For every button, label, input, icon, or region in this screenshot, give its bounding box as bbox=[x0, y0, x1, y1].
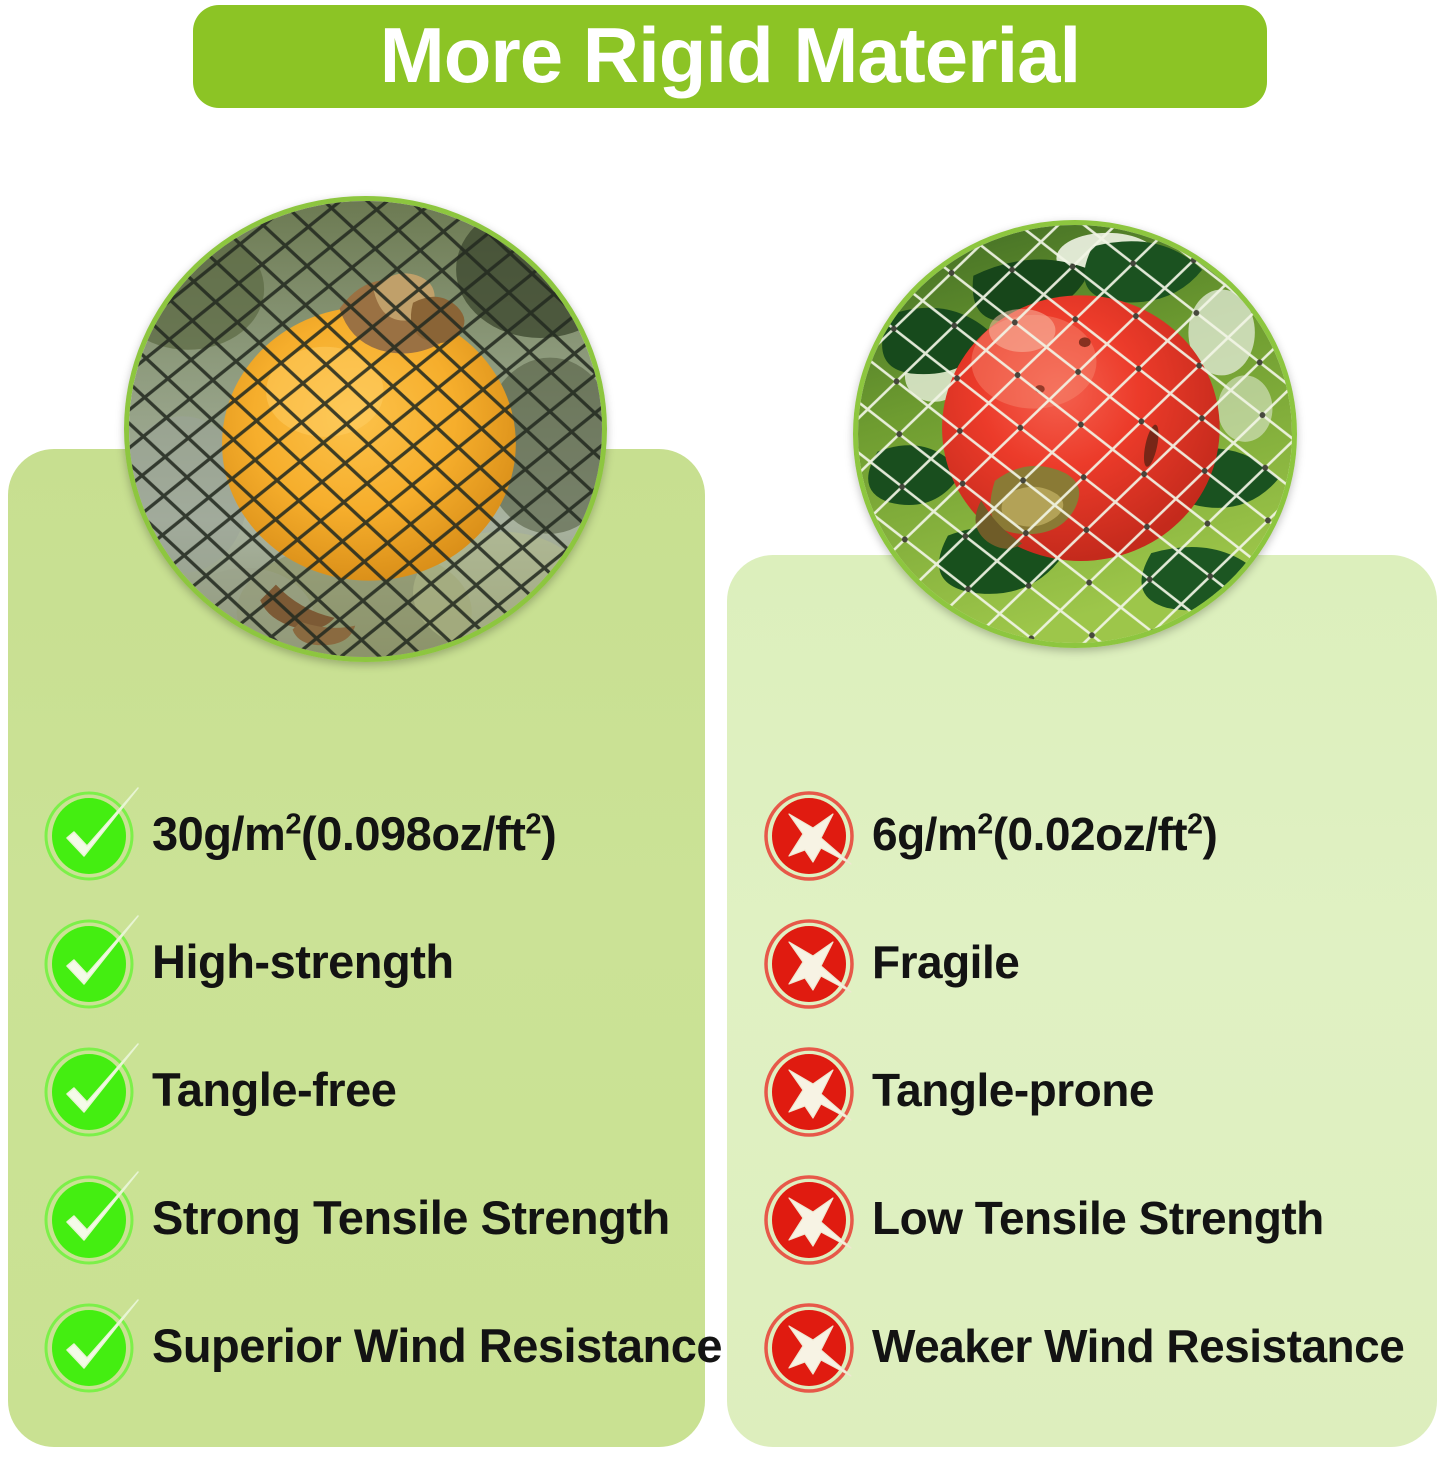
feature-label: Tangle-free bbox=[152, 1065, 396, 1114]
feature-row: Weaker Wind Resistance bbox=[762, 1290, 1432, 1402]
cross-icon bbox=[762, 1170, 858, 1266]
feature-row: High-strength bbox=[42, 906, 692, 1018]
feature-label: Strong Tensile Strength bbox=[152, 1193, 670, 1242]
feature-row: Low Tensile Strength bbox=[762, 1162, 1432, 1274]
feature-label: 30g/m2(0.098oz/ft2) bbox=[152, 809, 556, 858]
cross-icon bbox=[762, 914, 858, 1010]
feature-row: Tangle-free bbox=[42, 1034, 692, 1146]
feature-list-left: 30g/m2(0.098oz/ft2) High-strength Tangle… bbox=[42, 778, 692, 1418]
feature-row: 6g/m2(0.02oz/ft2) bbox=[762, 778, 1432, 890]
check-icon bbox=[42, 786, 138, 882]
check-icon bbox=[42, 1042, 138, 1138]
product-photo-right bbox=[853, 220, 1297, 648]
page-title: More Rigid Material bbox=[380, 16, 1080, 94]
feature-row: Fragile bbox=[762, 906, 1432, 1018]
cross-icon bbox=[762, 1042, 858, 1138]
feature-row: Strong Tensile Strength bbox=[42, 1162, 692, 1274]
feature-label: Superior Wind Resistance bbox=[152, 1321, 722, 1370]
feature-label: Low Tensile Strength bbox=[872, 1194, 1324, 1242]
feature-label: High-strength bbox=[152, 937, 454, 986]
check-icon bbox=[42, 1298, 138, 1394]
cross-icon bbox=[762, 786, 858, 882]
title-banner: More Rigid Material bbox=[193, 5, 1267, 108]
feature-label: 6g/m2(0.02oz/ft2) bbox=[872, 810, 1217, 858]
product-photo-left bbox=[124, 196, 607, 662]
feature-row: Tangle-prone bbox=[762, 1034, 1432, 1146]
feature-label: Weaker Wind Resistance bbox=[872, 1322, 1404, 1370]
feature-list-right: 6g/m2(0.02oz/ft2) Fragile Tangle-prone bbox=[762, 778, 1432, 1418]
feature-label: Fragile bbox=[872, 938, 1019, 986]
feature-row: Superior Wind Resistance bbox=[42, 1290, 692, 1402]
check-icon bbox=[42, 914, 138, 1010]
cross-icon bbox=[762, 1298, 858, 1394]
feature-row: 30g/m2(0.098oz/ft2) bbox=[42, 778, 692, 890]
check-icon bbox=[42, 1170, 138, 1266]
feature-label: Tangle-prone bbox=[872, 1066, 1154, 1114]
